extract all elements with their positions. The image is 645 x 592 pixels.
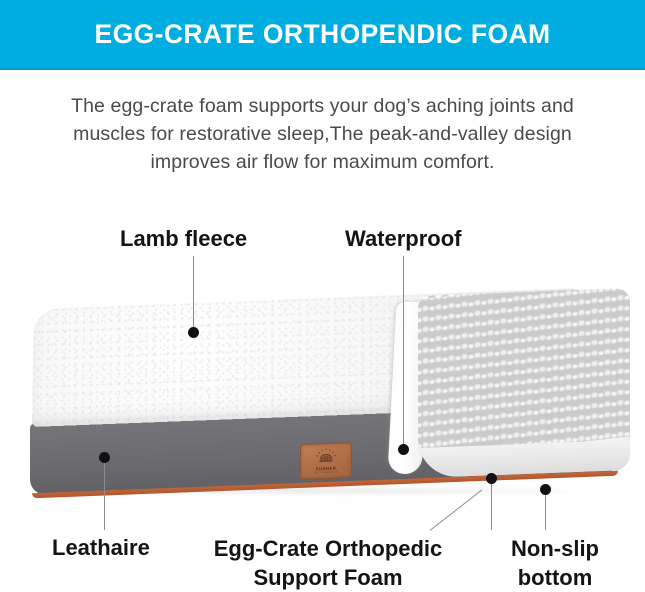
intro-line-1: The egg-crate foam supports your dog’s a… [36, 92, 609, 120]
callout-non-slip-line-2: bottom [494, 563, 616, 592]
leader-line-lamb-fleece [193, 256, 194, 332]
page-title: EGG-CRATE ORTHOPENDIC FOAM [95, 19, 551, 50]
intro-line-3: improves air flow for maximum comfort. [36, 148, 609, 176]
leader-dot-non-slip [540, 484, 551, 495]
leader-line-waterproof [403, 256, 404, 452]
leader-line-non-slip [545, 492, 546, 530]
callout-non-slip-line-1: Non-slip [494, 534, 616, 563]
callout-egg-crate-line-1: Egg-Crate Orthopedic [197, 534, 459, 563]
leader-line-egg-crate [491, 478, 492, 530]
leader-dot-waterproof [398, 444, 409, 455]
callout-waterproof: Waterproof [345, 225, 462, 252]
egg-crate-foam-block [418, 288, 630, 478]
intro-line-2: muscles for restorative sleep,The peak-a… [36, 120, 609, 148]
brand-leather-patch: SUNNER PET PRODUCTS [300, 442, 352, 480]
leader-dot-egg-crate [486, 473, 497, 484]
ground-shadow [44, 486, 604, 496]
product-illustration: SUNNER PET PRODUCTS [0, 280, 645, 510]
callout-non-slip-bottom: Non-slip bottom [494, 534, 616, 592]
callout-lamb-fleece: Lamb fleece [120, 225, 247, 252]
callout-egg-crate-line-2: Support Foam [197, 563, 459, 592]
leader-line-leathaire [104, 462, 105, 530]
leader-dot-lamb-fleece [188, 327, 199, 338]
brand-subtitle: PET PRODUCTS [314, 470, 337, 474]
leader-dot-leathaire [99, 452, 110, 463]
callout-egg-crate-support-foam: Egg-Crate Orthopedic Support Foam [197, 534, 459, 592]
callout-leathaire: Leathaire [52, 534, 150, 561]
sunburst-logo-icon [315, 448, 337, 466]
intro-paragraph: The egg-crate foam supports your dog’s a… [36, 92, 609, 176]
egg-crate-bumps-secondary [418, 288, 630, 461]
header-banner: EGG-CRATE ORTHOPENDIC FOAM [0, 0, 645, 70]
